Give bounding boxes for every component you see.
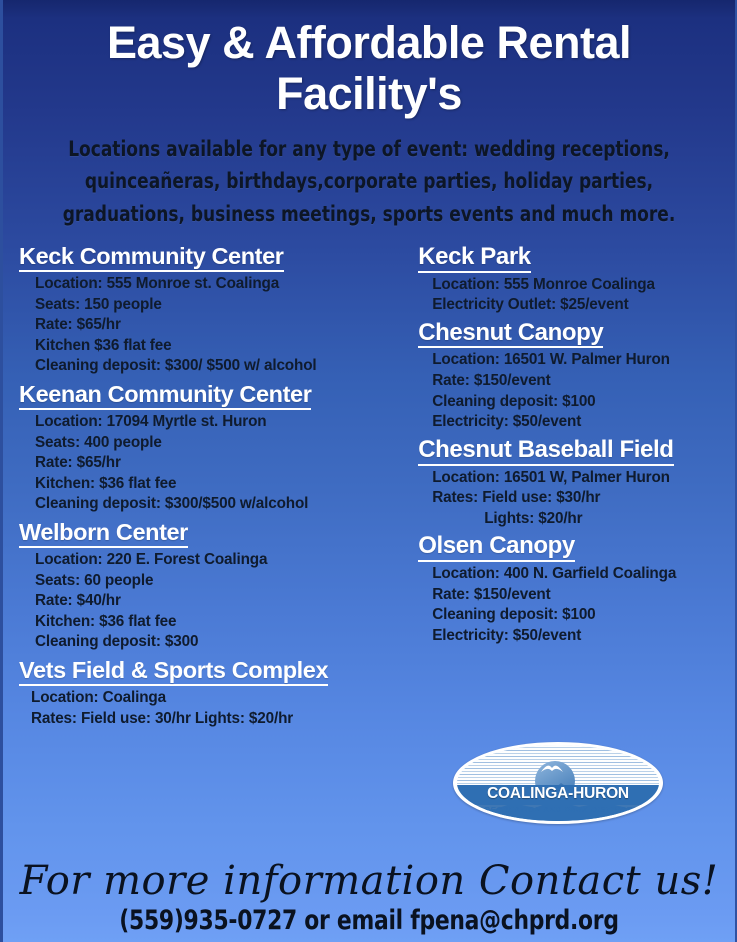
footer: For more information Contact us! (559)93…	[3, 860, 735, 936]
venue-detail-line: Rates: Field use: 30/hr Lights: $20/hr	[31, 709, 412, 730]
venue-heading[interactable]: Chesnut Baseball Field	[418, 436, 673, 466]
footer-contact-info: (559)935-0727 or email fpena@chprd.org	[40, 906, 699, 936]
venue-detail-line: Seats: 60 people	[35, 571, 412, 592]
venue-block-welborn-center: Welborn Center Location: 220 E. Forest C…	[19, 519, 412, 653]
left-venue-column: Keck Community Center Location: 555 Monr…	[3, 243, 412, 733]
venue-heading[interactable]: Vets Field & Sports Complex	[19, 657, 328, 686]
venue-block-chesnut-canopy: Chesnut Canopy Location: 16501 W. Palmer…	[418, 319, 735, 433]
venue-detail-line: Location: 17094 Myrtle st. Huron	[35, 412, 412, 433]
venue-columns: Keck Community Center Location: 555 Monr…	[3, 243, 735, 733]
venue-heading[interactable]: Keenan Community Center	[19, 381, 311, 410]
venue-detail-list: Location: 555 Monroe Coalinga Electricit…	[418, 275, 735, 316]
venue-block-chesnut-baseball-field: Chesnut Baseball Field Location: 16501 W…	[418, 436, 735, 530]
logo-title: COALINGA-HURON	[457, 784, 659, 804]
venue-detail-line: Location: 555 Monroe Coalinga	[432, 275, 735, 296]
venue-block-vets-field-sports-complex: Vets Field & Sports Complex Location: Co…	[19, 657, 412, 729]
venue-heading[interactable]: Welborn Center	[19, 519, 188, 548]
venue-detail-line: Electricity Outlet: $25/event	[432, 295, 735, 316]
venue-heading[interactable]: Keck Community Center	[19, 243, 284, 272]
venue-detail-line: Lights: $20/hr	[432, 509, 735, 530]
footer-call-to-action: For more information Contact us!	[3, 860, 735, 902]
venue-detail-line: Cleaning deposit: $100	[432, 605, 735, 626]
venue-detail-list: Location: 555 Monroe st. Coalinga Seats:…	[19, 274, 412, 377]
venue-detail-line: Kitchen $36 flat fee	[35, 336, 412, 357]
venue-detail-line: Electricity: $50/event	[432, 412, 735, 433]
venue-detail-list: Location: 17094 Myrtle st. Huron Seats: …	[19, 412, 412, 515]
venue-heading[interactable]: Olsen Canopy	[418, 532, 575, 562]
venue-detail-line: Rate: $40/hr	[35, 591, 412, 612]
venue-detail-line: Cleaning deposit: $100	[432, 392, 735, 413]
venue-detail-line: Location: 16501 W, Palmer Huron	[432, 468, 735, 489]
logo-bird-icon	[540, 763, 564, 775]
venue-detail-line: Rate: $65/hr	[35, 315, 412, 336]
page-title: Easy & Affordable Rental Facility's	[3, 0, 735, 120]
venue-detail-list: Location: 16501 W. Palmer Huron Rate: $1…	[418, 350, 735, 432]
venue-detail-list: Location: 16501 W, Palmer Huron Rates: F…	[418, 468, 735, 530]
venue-detail-line: Rate: $65/hr	[35, 453, 412, 474]
venue-detail-line: Rate: $150/event	[432, 371, 735, 392]
venue-block-keck-community-center: Keck Community Center Location: 555 Monr…	[19, 243, 412, 377]
venue-detail-line: Rates: Field use: $30/hr	[432, 488, 735, 509]
venue-heading[interactable]: Keck Park	[418, 243, 531, 273]
logo-subtitle: RECREATION AND PARK DISTRICT	[457, 804, 659, 815]
venue-detail-line: Electricity: $50/event	[432, 626, 735, 647]
venue-detail-line: Kitchen: $36 flat fee	[35, 474, 412, 495]
venue-detail-line: Location: 16501 W. Palmer Huron	[432, 350, 735, 371]
venue-detail-line: Location: Coalinga	[31, 688, 412, 709]
venue-block-keenan-community-center: Keenan Community Center Location: 17094 …	[19, 381, 412, 515]
rental-facilities-flyer: Easy & Affordable Rental Facility's Loca…	[0, 0, 737, 942]
venue-detail-line: Seats: 150 people	[35, 295, 412, 316]
venue-detail-line: Rate: $150/event	[432, 585, 735, 606]
venue-block-olsen-canopy: Olsen Canopy Location: 400 N. Garfield C…	[418, 532, 735, 646]
venue-detail-line: Cleaning deposit: $300/$500 w/alcohol	[35, 494, 412, 515]
venue-detail-list: Location: Coalinga Rates: Field use: 30/…	[19, 688, 412, 729]
venue-detail-line: Kitchen: $36 flat fee	[35, 612, 412, 633]
coalinga-huron-logo: COALINGA-HURON RECREATION AND PARK DISTR…	[453, 742, 663, 824]
venue-detail-line: Location: 555 Monroe st. Coalinga	[35, 274, 412, 295]
flyer-subtitle: Locations available for any type of even…	[47, 134, 691, 232]
venue-detail-line: Location: 400 N. Garfield Coalinga	[432, 564, 735, 585]
logo-oval-frame: COALINGA-HURON RECREATION AND PARK DISTR…	[453, 742, 663, 824]
venue-detail-line: Location: 220 E. Forest Coalinga	[35, 550, 412, 571]
right-venue-column: Keck Park Location: 555 Monroe Coalinga …	[412, 243, 735, 650]
venue-detail-line: Cleaning deposit: $300	[35, 632, 412, 653]
venue-block-keck-park: Keck Park Location: 555 Monroe Coalinga …	[418, 243, 735, 316]
venue-detail-line: Cleaning deposit: $300/ $500 w/ alcohol	[35, 356, 412, 377]
logo-scene: COALINGA-HURON RECREATION AND PARK DISTR…	[457, 745, 659, 821]
venue-detail-line: Seats: 400 people	[35, 433, 412, 454]
venue-detail-list: Location: 220 E. Forest Coalinga Seats: …	[19, 550, 412, 653]
venue-detail-list: Location: 400 N. Garfield Coalinga Rate:…	[418, 564, 735, 646]
venue-heading[interactable]: Chesnut Canopy	[418, 319, 603, 349]
